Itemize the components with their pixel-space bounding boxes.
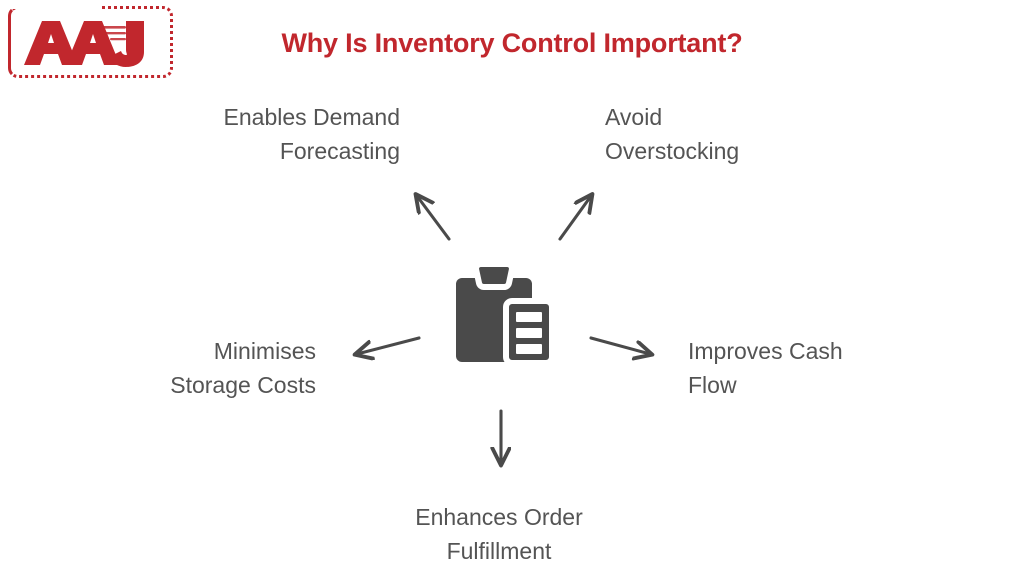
- infographic-canvas: Why Is Inventory Control Important? Enab…: [0, 0, 1024, 576]
- clipboard-inventory-icon: [448, 258, 560, 368]
- node-label-cash-flow: Improves Cash Flow: [688, 334, 968, 402]
- node-label-order-fulfillment: Enhances Order Fulfillment: [374, 500, 624, 568]
- arrow-left-icon: [357, 338, 419, 354]
- arrow-up-right-icon: [560, 196, 591, 239]
- page-title: Why Is Inventory Control Important?: [0, 28, 1024, 59]
- node-label-storage-costs: Minimises Storage Costs: [60, 334, 316, 402]
- arrow-up-left-icon: [417, 196, 449, 239]
- node-label-avoid-overstocking: Avoid Overstocking: [605, 100, 885, 168]
- node-label-demand-forecasting: Enables Demand Forecasting: [120, 100, 400, 168]
- arrow-right-icon: [591, 338, 650, 354]
